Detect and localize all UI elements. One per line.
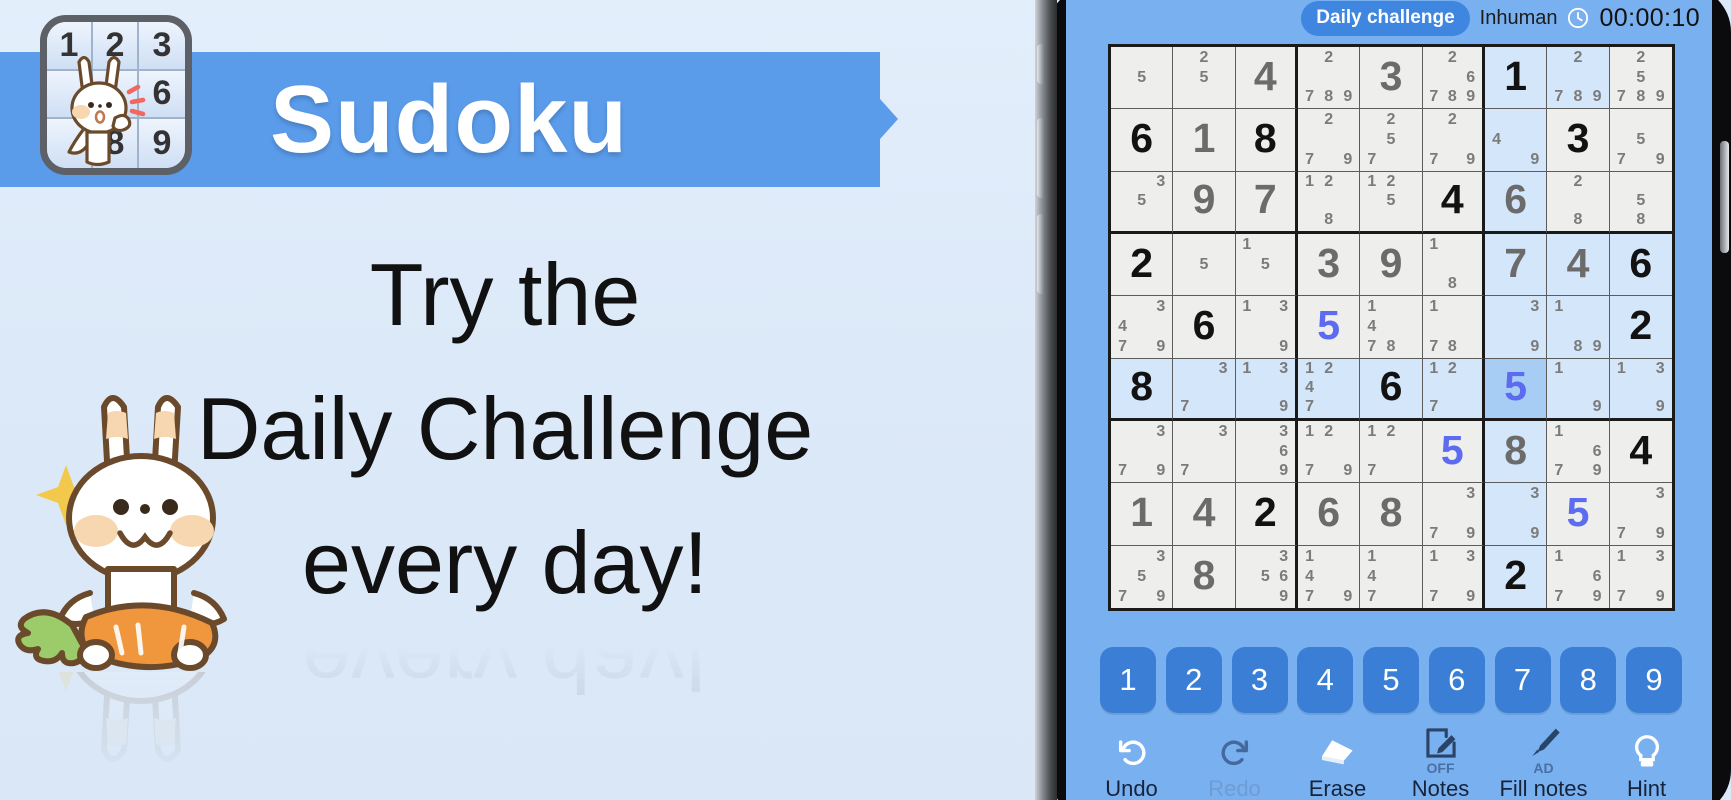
- sudoku-cell-r1c8[interactable]: 2789: [1547, 47, 1609, 109]
- volume-up-button[interactable]: [1037, 118, 1045, 198]
- sudoku-cell-r9c4[interactable]: 1479: [1298, 546, 1360, 608]
- note-2: 2: [1319, 110, 1338, 130]
- clock-icon: [1567, 7, 1589, 29]
- note-6: 6: [1275, 442, 1293, 462]
- note-5: [1319, 192, 1338, 211]
- sudoku-cell-r7c6[interactable]: 5: [1423, 421, 1485, 483]
- note-1: 1: [1362, 547, 1381, 567]
- numpad-key-6[interactable]: 6: [1429, 647, 1485, 713]
- note-7: [1487, 524, 1506, 544]
- cell-notes: 189: [1547, 296, 1608, 357]
- sudoku-cell-r3c9[interactable]: 58: [1610, 172, 1672, 234]
- note-3: [1525, 110, 1544, 130]
- sudoku-cell-r3c3[interactable]: 7: [1236, 172, 1298, 234]
- sudoku-cell-r2c2[interactable]: 1: [1173, 109, 1235, 171]
- sudoku-cell-r8c3[interactable]: 2: [1236, 483, 1298, 545]
- cell-notes: 1379: [1610, 546, 1672, 608]
- sudoku-cell-r5c9[interactable]: 2: [1610, 296, 1672, 358]
- cell-notes: 127: [1423, 359, 1482, 418]
- cell-value: 2: [1236, 483, 1295, 544]
- sudoku-cell-r8c7[interactable]: 39: [1485, 483, 1547, 545]
- note-1: 1: [1612, 360, 1631, 379]
- note-9: 9: [1588, 462, 1607, 482]
- sudoku-cell-r3c8[interactable]: 28: [1547, 172, 1609, 234]
- cell-notes: 1679: [1547, 546, 1608, 608]
- note-4: [1425, 68, 1443, 88]
- note-7: 7: [1425, 398, 1443, 417]
- sudoku-cell-r3c2[interactable]: 9: [1173, 172, 1235, 234]
- note-5: [1506, 130, 1525, 150]
- toolbar-label: Undo: [1082, 776, 1182, 800]
- sudoku-cell-r7c7[interactable]: 8: [1485, 421, 1547, 483]
- note-8: [1381, 150, 1400, 170]
- note-9: 9: [1588, 398, 1607, 417]
- note-7: [1238, 587, 1256, 607]
- sudoku-cell-r5c1[interactable]: 3479: [1111, 296, 1173, 358]
- sudoku-cell-r8c2[interactable]: 4: [1173, 483, 1235, 545]
- note-9: 9: [1275, 587, 1293, 607]
- sudoku-cell-r8c5[interactable]: 8: [1360, 483, 1422, 545]
- note-4: [1425, 504, 1443, 524]
- sudoku-cell-r1c3[interactable]: 4: [1236, 47, 1298, 109]
- sudoku-cell-r2c4[interactable]: 279: [1298, 109, 1360, 171]
- sudoku-cell-r9c2[interactable]: 8: [1173, 546, 1235, 608]
- sudoku-cell-r7c5[interactable]: 127: [1360, 421, 1422, 483]
- note-7: 7: [1425, 337, 1443, 357]
- note-2: [1256, 235, 1274, 255]
- sudoku-cell-r5c6[interactable]: 178: [1423, 296, 1485, 358]
- numpad-key-1[interactable]: 1: [1100, 647, 1156, 713]
- note-1: 1: [1300, 422, 1319, 442]
- cell-value: 4: [1423, 172, 1482, 231]
- cell-notes: 579: [1610, 109, 1672, 170]
- note-8: [1132, 462, 1151, 482]
- cell-value: 6: [1485, 172, 1546, 231]
- sudoku-cell-r1c1[interactable]: 5: [1111, 47, 1173, 109]
- note-6: [1651, 192, 1670, 211]
- note-4: [1549, 192, 1568, 211]
- sudoku-cell-r6c5[interactable]: 6: [1360, 359, 1422, 421]
- numpad-key-7[interactable]: 7: [1495, 647, 1551, 713]
- note-8: 8: [1631, 211, 1650, 230]
- note-8: 8: [1568, 337, 1587, 357]
- note-9: 9: [1462, 150, 1480, 170]
- sudoku-cell-r9c9[interactable]: 1379: [1610, 546, 1672, 608]
- sudoku-cell-r9c7[interactable]: 2: [1485, 546, 1547, 608]
- banner-arrow-tip: [838, 52, 898, 186]
- note-8: [1132, 88, 1151, 108]
- sudoku-board[interactable]: 5254278932678912789257896182792572794935…: [1108, 44, 1675, 611]
- sudoku-cell-r1c4[interactable]: 2789: [1298, 47, 1360, 109]
- note-5: [1381, 567, 1400, 587]
- cell-notes: 1479: [1298, 546, 1359, 608]
- note-4: [1113, 68, 1132, 88]
- sudoku-cell-r6c7[interactable]: 5: [1485, 359, 1547, 421]
- note-5: 5: [1194, 68, 1213, 88]
- note-8: [1319, 398, 1338, 417]
- note-5: 5: [1194, 255, 1213, 275]
- sudoku-cell-r2c7[interactable]: 49: [1485, 109, 1547, 171]
- sudoku-cell-r2c8[interactable]: 3: [1547, 109, 1609, 171]
- note-4: [1612, 504, 1631, 524]
- note-8: [1319, 587, 1338, 607]
- note-7: 7: [1362, 337, 1381, 357]
- sudoku-cell-r1c6[interactable]: 26789: [1423, 47, 1485, 109]
- note-2: [1194, 235, 1213, 255]
- note-8: [1381, 211, 1400, 230]
- sudoku-cell-r3c6[interactable]: 4: [1423, 172, 1485, 234]
- note-1: [1612, 484, 1631, 504]
- toolbar-redo-button[interactable]: Redo: [1185, 729, 1285, 800]
- note-3: 3: [1275, 297, 1293, 317]
- sudoku-cell-r2c9[interactable]: 579: [1610, 109, 1672, 171]
- note-2: 2: [1443, 48, 1461, 68]
- note-1: 1: [1549, 297, 1568, 317]
- daily-challenge-chip[interactable]: Daily challenge: [1301, 1, 1469, 36]
- cell-notes: 139: [1236, 296, 1295, 357]
- note-4: [1300, 442, 1319, 462]
- note-8: 8: [1568, 211, 1587, 230]
- note-2: 2: [1443, 110, 1461, 130]
- note-5: [1256, 379, 1274, 398]
- note-9: [1214, 398, 1233, 417]
- note-2: [1381, 297, 1400, 317]
- note-2: [1132, 48, 1151, 68]
- sudoku-cell-r4c1[interactable]: 2: [1111, 234, 1173, 296]
- sudoku-cell-r9c8[interactable]: 1679: [1547, 546, 1609, 608]
- note-5: [1568, 379, 1587, 398]
- note-7: 7: [1362, 462, 1381, 482]
- sudoku-cell-r4c9[interactable]: 6: [1610, 234, 1672, 296]
- note-5: [1443, 68, 1461, 88]
- mascot-reflection: [12, 672, 262, 800]
- toolbar-undo-button[interactable]: Undo: [1082, 729, 1182, 800]
- cell-notes: 3579: [1111, 546, 1172, 608]
- sudoku-cell-r6c6[interactable]: 127: [1423, 359, 1485, 421]
- sudoku-cell-r7c9[interactable]: 4: [1610, 421, 1672, 483]
- sudoku-cell-r2c3[interactable]: 8: [1236, 109, 1298, 171]
- note-7: [1113, 211, 1132, 230]
- note-4: [1238, 379, 1256, 398]
- note-7: 7: [1549, 587, 1568, 607]
- note-8: [1256, 587, 1274, 607]
- note-1: [1238, 547, 1256, 567]
- numpad-key-2[interactable]: 2: [1166, 647, 1222, 713]
- sudoku-cell-r2c6[interactable]: 279: [1423, 109, 1485, 171]
- note-9: [1462, 275, 1480, 295]
- note-1: [1487, 484, 1506, 504]
- note-4: [1549, 68, 1568, 88]
- sudoku-cell-r8c9[interactable]: 379: [1610, 483, 1672, 545]
- headline-line-1: Try the: [0, 228, 1010, 362]
- note-2: 2: [1381, 173, 1400, 192]
- sudoku-cell-r4c6[interactable]: 18: [1423, 234, 1485, 296]
- cell-value: 5: [1547, 483, 1608, 544]
- note-1: [1549, 173, 1568, 192]
- note-9: 9: [1462, 88, 1480, 108]
- sudoku-cell-r6c4[interactable]: 1247: [1298, 359, 1360, 421]
- note-2: [1132, 173, 1151, 192]
- note-5: 5: [1381, 130, 1400, 150]
- note-5: [1381, 442, 1400, 462]
- note-1: [1487, 297, 1506, 317]
- note-9: 9: [1651, 150, 1670, 170]
- note-8: [1132, 211, 1151, 230]
- sudoku-cell-r8c4[interactable]: 6: [1298, 483, 1360, 545]
- note-3: [1462, 110, 1480, 130]
- numpad-key-9[interactable]: 9: [1626, 647, 1682, 713]
- note-8: 8: [1443, 337, 1461, 357]
- note-1: [1175, 360, 1194, 379]
- note-9: [1401, 150, 1420, 170]
- cell-notes: 139: [1610, 359, 1672, 418]
- note-3: [1651, 173, 1670, 192]
- cell-value: 8: [1360, 483, 1421, 544]
- cell-value: 6: [1298, 483, 1359, 544]
- note-3: 3: [1275, 547, 1293, 567]
- cell-notes: 1247: [1298, 359, 1359, 418]
- sudoku-cell-r9c5[interactable]: 147: [1360, 546, 1422, 608]
- sudoku-cell-r4c3[interactable]: 15: [1236, 234, 1298, 296]
- cell-notes: 379: [1610, 483, 1672, 544]
- note-2: [1631, 173, 1650, 192]
- note-7: [1612, 211, 1631, 230]
- cell-notes: 28: [1547, 172, 1608, 231]
- sudoku-cell-r8c1[interactable]: 1: [1111, 483, 1173, 545]
- volume-down-button[interactable]: [1037, 214, 1045, 294]
- note-7: 7: [1549, 462, 1568, 482]
- note-6: [1651, 504, 1670, 524]
- note-7: [1238, 398, 1256, 417]
- note-9: 9: [1588, 587, 1607, 607]
- sudoku-cell-r3c4[interactable]: 128: [1298, 172, 1360, 234]
- sudoku-cell-r3c1[interactable]: 35: [1111, 172, 1173, 234]
- game-toolbar[interactable]: UndoRedoEraseOFFNotesADFill notesHint: [1066, 718, 1712, 800]
- note-9: 9: [1525, 150, 1544, 170]
- note-5: 5: [1132, 567, 1151, 587]
- sudoku-cell-r4c7[interactable]: 7: [1485, 234, 1547, 296]
- note-4: 4: [1362, 567, 1381, 587]
- sudoku-cell-r8c8[interactable]: 5: [1547, 483, 1609, 545]
- note-2: [1568, 297, 1587, 317]
- sudoku-cell-r6c2[interactable]: 37: [1173, 359, 1235, 421]
- cell-value: 6: [1360, 359, 1421, 418]
- note-7: 7: [1612, 88, 1631, 108]
- note-2: [1443, 547, 1461, 567]
- note-4: [1175, 255, 1194, 275]
- note-9: 9: [1588, 88, 1607, 108]
- sudoku-cell-r9c1[interactable]: 3579: [1111, 546, 1173, 608]
- note-9: [1401, 337, 1420, 357]
- note-6: [1151, 68, 1170, 88]
- sudoku-cell-r2c1[interactable]: 6: [1111, 109, 1173, 171]
- numpad-key-3[interactable]: 3: [1232, 647, 1288, 713]
- sudoku-cell-r5c3[interactable]: 139: [1236, 296, 1298, 358]
- cell-notes: 25789: [1610, 47, 1672, 108]
- cell-value: 4: [1547, 234, 1608, 295]
- note-4: [1425, 567, 1443, 587]
- note-3: [1588, 547, 1607, 567]
- toolbar-label: Redo: [1185, 776, 1285, 800]
- toolbar-fill-notes-button[interactable]: ADFill notes: [1494, 720, 1594, 800]
- sudoku-cell-r5c5[interactable]: 1478: [1360, 296, 1422, 358]
- cell-value: 2: [1111, 234, 1172, 295]
- note-3: [1401, 297, 1420, 317]
- note-5: [1256, 442, 1274, 462]
- sudoku-cell-r1c2[interactable]: 25: [1173, 47, 1235, 109]
- note-8: [1631, 150, 1650, 170]
- note-9: [1462, 337, 1480, 357]
- number-pad[interactable]: 123456789: [1100, 647, 1682, 715]
- cell-notes: 5: [1173, 234, 1234, 295]
- note-4: 4: [1300, 379, 1319, 398]
- note-4: [1238, 255, 1256, 275]
- sudoku-cell-r8c6[interactable]: 379: [1423, 483, 1485, 545]
- note-9: 9: [1151, 462, 1170, 482]
- note-3: [1401, 173, 1420, 192]
- note-4: 4: [1300, 567, 1319, 587]
- sudoku-cell-r7c2[interactable]: 37: [1173, 421, 1235, 483]
- note-7: [1175, 275, 1194, 295]
- sudoku-cell-r9c3[interactable]: 3569: [1236, 546, 1298, 608]
- cell-value: 2: [1610, 296, 1672, 357]
- note-1: 1: [1300, 173, 1319, 192]
- toolbar-hint-button[interactable]: Hint: [1597, 729, 1697, 800]
- rabbit-mascot-large-icon: [12, 672, 262, 800]
- cell-notes: 1379: [1423, 546, 1482, 608]
- note-8: [1506, 524, 1525, 544]
- note-3: [1588, 48, 1607, 68]
- note-1: 1: [1425, 297, 1443, 317]
- toolbar-erase-button[interactable]: Erase: [1288, 729, 1388, 800]
- sudoku-cell-r4c8[interactable]: 4: [1547, 234, 1609, 296]
- cell-value: 4: [1610, 421, 1672, 482]
- note-1: [1300, 110, 1319, 130]
- sudoku-cell-r5c2[interactable]: 6: [1173, 296, 1235, 358]
- note-6: [1151, 192, 1170, 211]
- note-3: [1401, 110, 1420, 130]
- note-8: [1319, 150, 1338, 170]
- power-button[interactable]: [1720, 141, 1729, 253]
- silence-switch[interactable]: [1037, 44, 1045, 84]
- cell-notes: 39: [1485, 483, 1546, 544]
- numpad-key-8[interactable]: 8: [1560, 647, 1616, 713]
- sudoku-cell-r7c8[interactable]: 1679: [1547, 421, 1609, 483]
- note-5: [1319, 68, 1338, 88]
- redo-icon: [1185, 729, 1285, 775]
- note-9: [1588, 211, 1607, 230]
- note-5: [1319, 130, 1338, 150]
- note-1: [1425, 110, 1443, 130]
- note-9: 9: [1151, 587, 1170, 607]
- note-2: [1132, 422, 1151, 442]
- note-1: [1113, 48, 1132, 68]
- note-5: [1256, 317, 1274, 337]
- note-8: [1381, 587, 1400, 607]
- note-6: [1275, 255, 1293, 275]
- phone-mockup: Daily challenge Inhuman 00:00:10 5254278…: [1023, 0, 1731, 800]
- cell-value: 1: [1485, 47, 1546, 108]
- sudoku-cell-r5c8[interactable]: 189: [1547, 296, 1609, 358]
- note-6: [1338, 379, 1357, 398]
- note-9: 9: [1338, 150, 1357, 170]
- sudoku-cell-r3c5[interactable]: 125: [1360, 172, 1422, 234]
- sudoku-cell-r1c9[interactable]: 25789: [1610, 47, 1672, 109]
- sudoku-cell-r4c4[interactable]: 3: [1298, 234, 1360, 296]
- sudoku-cell-r9c6[interactable]: 1379: [1423, 546, 1485, 608]
- note-2: [1132, 297, 1151, 317]
- note-1: [1425, 48, 1443, 68]
- note-2: 2: [1568, 48, 1587, 68]
- sudoku-cell-r4c5[interactable]: 9: [1360, 234, 1422, 296]
- note-2: [1381, 547, 1400, 567]
- sudoku-cell-r6c8[interactable]: 19: [1547, 359, 1609, 421]
- note-6: [1214, 68, 1233, 88]
- note-9: 9: [1588, 337, 1607, 357]
- cell-value: 7: [1485, 234, 1546, 295]
- note-6: [1462, 255, 1480, 275]
- sudoku-cell-r4c2[interactable]: 5: [1173, 234, 1235, 296]
- cell-value: 4: [1236, 47, 1295, 108]
- sudoku-cell-r6c9[interactable]: 139: [1610, 359, 1672, 421]
- note-4: [1612, 68, 1631, 88]
- cell-value: 6: [1610, 234, 1672, 295]
- note-9: 9: [1275, 398, 1293, 417]
- note-1: [1487, 110, 1506, 130]
- cell-value: 5: [1298, 296, 1359, 357]
- note-5: [1443, 567, 1461, 587]
- sudoku-cell-r5c4[interactable]: 5: [1298, 296, 1360, 358]
- sudoku-cell-r1c5[interactable]: 3: [1360, 47, 1422, 109]
- sudoku-cell-r7c3[interactable]: 369: [1236, 421, 1298, 483]
- sudoku-cell-r1c7[interactable]: 1: [1485, 47, 1547, 109]
- sudoku-cell-r7c1[interactable]: 379: [1111, 421, 1173, 483]
- toolbar-notes-button[interactable]: OFFNotes: [1391, 720, 1491, 800]
- note-6: [1651, 567, 1670, 587]
- sudoku-cell-r6c3[interactable]: 139: [1236, 359, 1298, 421]
- note-8: [1132, 587, 1151, 607]
- note-4: [1238, 567, 1256, 587]
- note-6: 6: [1275, 567, 1293, 587]
- note-4: [1425, 317, 1443, 337]
- numpad-key-4[interactable]: 4: [1297, 647, 1353, 713]
- sudoku-cell-r2c5[interactable]: 257: [1360, 109, 1422, 171]
- note-7: 7: [1612, 150, 1631, 170]
- note-8: 8: [1568, 88, 1587, 108]
- note-4: [1425, 130, 1443, 150]
- note-7: 7: [1425, 88, 1443, 108]
- note-3: 3: [1214, 360, 1233, 379]
- note-7: 7: [1175, 398, 1194, 417]
- note-3: 3: [1525, 297, 1544, 317]
- toolbar-label: Erase: [1288, 776, 1388, 800]
- note-8: 8: [1443, 88, 1461, 108]
- note-7: [1487, 337, 1506, 357]
- sudoku-cell-r3c7[interactable]: 6: [1485, 172, 1547, 234]
- note-3: [1588, 173, 1607, 192]
- note-4: 4: [1487, 130, 1506, 150]
- note-2: [1631, 110, 1650, 130]
- sudoku-cell-r5c7[interactable]: 39: [1485, 296, 1547, 358]
- sudoku-cell-r7c4[interactable]: 1279: [1298, 421, 1360, 483]
- numpad-key-5[interactable]: 5: [1363, 647, 1419, 713]
- cell-value: 6: [1173, 296, 1234, 357]
- note-5: [1568, 567, 1587, 587]
- cell-notes: 2789: [1547, 47, 1608, 108]
- note-1: 1: [1238, 235, 1256, 255]
- note-9: 9: [1651, 524, 1670, 544]
- sudoku-cell-r6c1[interactable]: 8: [1111, 359, 1173, 421]
